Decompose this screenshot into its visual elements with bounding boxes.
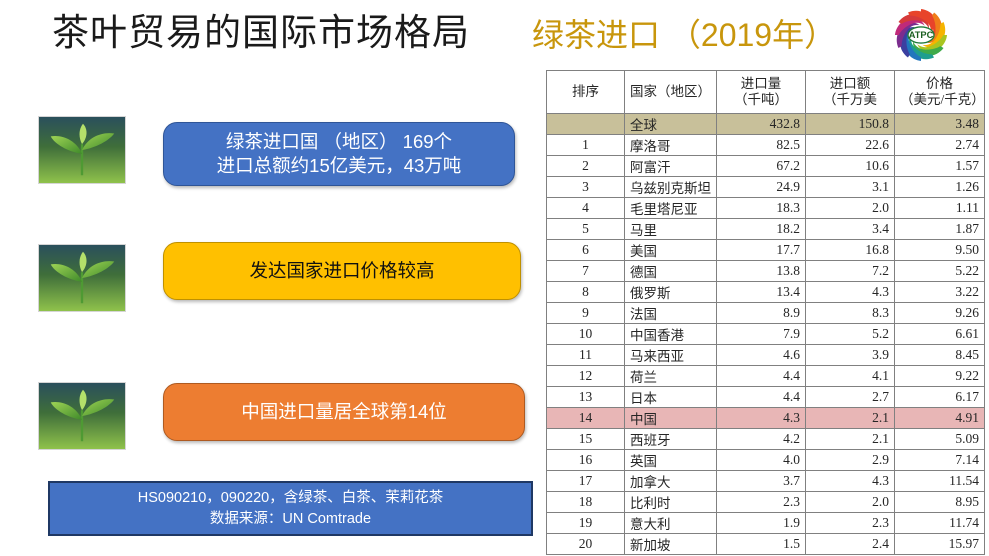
cell-volume: 2.3 bbox=[717, 492, 806, 513]
table-row: 11马来西亚4.63.98.45 bbox=[547, 345, 985, 366]
tea-sprout-art-2 bbox=[39, 245, 125, 311]
table-row: 5马里18.23.41.87 bbox=[547, 219, 985, 240]
cell-value: 2.4 bbox=[806, 534, 895, 555]
cell-rank: 14 bbox=[547, 408, 625, 429]
callout-developed-price: 发达国家进口价格较高 bbox=[163, 242, 521, 300]
callout-china-rank: 中国进口量居全球第14位 bbox=[163, 383, 525, 441]
col-header-volume: 进口量 （千吨） bbox=[717, 71, 806, 114]
table-row: 14中国4.32.14.91 bbox=[547, 408, 985, 429]
cell-country: 加拿大 bbox=[625, 471, 717, 492]
cell-price: 6.61 bbox=[895, 324, 985, 345]
cell-country: 阿富汗 bbox=[625, 156, 717, 177]
cell-value: 5.2 bbox=[806, 324, 895, 345]
cell-price: 6.17 bbox=[895, 387, 985, 408]
table-row: 20新加坡1.52.415.97 bbox=[547, 534, 985, 555]
cell-price: 5.09 bbox=[895, 429, 985, 450]
cell-value: 4.1 bbox=[806, 366, 895, 387]
cell-value: 3.4 bbox=[806, 219, 895, 240]
table-row: 19意大利1.92.311.74 bbox=[547, 513, 985, 534]
cell-rank: 17 bbox=[547, 471, 625, 492]
cell-country: 俄罗斯 bbox=[625, 282, 717, 303]
cell-rank: 5 bbox=[547, 219, 625, 240]
cell-value: 2.1 bbox=[806, 429, 895, 450]
tea-sprout-photo-2 bbox=[38, 244, 126, 312]
cell-price: 1.11 bbox=[895, 198, 985, 219]
cell-value: 4.3 bbox=[806, 282, 895, 303]
source-note-text: HS090210，090220，含绿茶、白茶、茉莉花茶 数据来源：UN Comt… bbox=[138, 488, 443, 529]
cell-country: 马来西亚 bbox=[625, 345, 717, 366]
cell-volume: 13.4 bbox=[717, 282, 806, 303]
cell-price: 3.22 bbox=[895, 282, 985, 303]
atpc-logo-icon: ATPC bbox=[888, 4, 954, 66]
cell-volume: 18.3 bbox=[717, 198, 806, 219]
cell-rank: 7 bbox=[547, 261, 625, 282]
cell-price: 1.87 bbox=[895, 219, 985, 240]
table-row: 7德国13.87.25.22 bbox=[547, 261, 985, 282]
cell-rank: 10 bbox=[547, 324, 625, 345]
cell-price: 1.57 bbox=[895, 156, 985, 177]
cell-rank: 15 bbox=[547, 429, 625, 450]
cell-rank: 20 bbox=[547, 534, 625, 555]
callout-china-rank-text: 中国进口量居全球第14位 bbox=[241, 400, 447, 424]
green-tea-import-table: 排序 国家（地区） 进口量 （千吨） 进口额 （千万美 价格 （美元/千克） 全… bbox=[546, 70, 985, 555]
cell-value: 150.8 bbox=[806, 114, 895, 135]
cell-rank: 8 bbox=[547, 282, 625, 303]
cell-price: 15.97 bbox=[895, 534, 985, 555]
cell-rank: 19 bbox=[547, 513, 625, 534]
cell-volume: 17.7 bbox=[717, 240, 806, 261]
table-header: 排序 国家（地区） 进口量 （千吨） 进口额 （千万美 价格 （美元/千克） bbox=[547, 71, 985, 114]
cell-rank: 16 bbox=[547, 450, 625, 471]
cell-country: 全球 bbox=[625, 114, 717, 135]
table-row: 12荷兰4.44.19.22 bbox=[547, 366, 985, 387]
cell-rank bbox=[547, 114, 625, 135]
page-title: 茶叶贸易的国际市场格局 bbox=[52, 8, 470, 58]
callout-importers-summary: 绿茶进口国 （地区） 169个 进口总额约15亿美元，43万吨 bbox=[163, 122, 515, 186]
cell-country: 日本 bbox=[625, 387, 717, 408]
table-row: 17加拿大3.74.311.54 bbox=[547, 471, 985, 492]
cell-price: 9.50 bbox=[895, 240, 985, 261]
cell-volume: 4.6 bbox=[717, 345, 806, 366]
cell-value: 8.3 bbox=[806, 303, 895, 324]
cell-volume: 3.7 bbox=[717, 471, 806, 492]
cell-country: 比利时 bbox=[625, 492, 717, 513]
cell-price: 9.26 bbox=[895, 303, 985, 324]
cell-country: 西班牙 bbox=[625, 429, 717, 450]
cell-price: 4.91 bbox=[895, 408, 985, 429]
table-row: 6美国17.716.89.50 bbox=[547, 240, 985, 261]
table-row: 8俄罗斯13.44.33.22 bbox=[547, 282, 985, 303]
cell-country: 乌兹别克斯坦 bbox=[625, 177, 717, 198]
cell-value: 3.1 bbox=[806, 177, 895, 198]
table-row: 18比利时2.32.08.95 bbox=[547, 492, 985, 513]
callout-importers-summary-text: 绿茶进口国 （地区） 169个 进口总额约15亿美元，43万吨 bbox=[217, 130, 462, 177]
cell-value: 2.0 bbox=[806, 198, 895, 219]
col-header-value: 进口额 （千万美 bbox=[806, 71, 895, 114]
cell-country: 法国 bbox=[625, 303, 717, 324]
atpc-logo-svg: ATPC bbox=[888, 4, 954, 66]
col-header-country: 国家（地区） bbox=[625, 71, 717, 114]
cell-volume: 4.2 bbox=[717, 429, 806, 450]
cell-volume: 1.5 bbox=[717, 534, 806, 555]
table-row: 3乌兹别克斯坦24.93.11.26 bbox=[547, 177, 985, 198]
cell-value: 22.6 bbox=[806, 135, 895, 156]
cell-rank: 18 bbox=[547, 492, 625, 513]
cell-price: 3.48 bbox=[895, 114, 985, 135]
table-header-row: 排序 国家（地区） 进口量 （千吨） 进口额 （千万美 价格 （美元/千克） bbox=[547, 71, 985, 114]
table-row: 9法国8.98.39.26 bbox=[547, 303, 985, 324]
callout-developed-price-text: 发达国家进口价格较高 bbox=[249, 259, 434, 283]
cell-country: 新加坡 bbox=[625, 534, 717, 555]
cell-country: 意大利 bbox=[625, 513, 717, 534]
table-row: 1摩洛哥82.522.62.74 bbox=[547, 135, 985, 156]
tea-sprout-photo-3 bbox=[38, 382, 126, 450]
cell-value: 2.3 bbox=[806, 513, 895, 534]
col-header-price: 价格 （美元/千克） bbox=[895, 71, 985, 114]
cell-country: 德国 bbox=[625, 261, 717, 282]
cell-volume: 4.4 bbox=[717, 387, 806, 408]
cell-price: 11.74 bbox=[895, 513, 985, 534]
cell-country: 中国香港 bbox=[625, 324, 717, 345]
cell-value: 3.9 bbox=[806, 345, 895, 366]
cell-rank: 11 bbox=[547, 345, 625, 366]
cell-price: 8.45 bbox=[895, 345, 985, 366]
cell-volume: 8.9 bbox=[717, 303, 806, 324]
table-row: 13日本4.42.76.17 bbox=[547, 387, 985, 408]
cell-country: 中国 bbox=[625, 408, 717, 429]
cell-volume: 4.4 bbox=[717, 366, 806, 387]
cell-volume: 432.8 bbox=[717, 114, 806, 135]
table-row: 10中国香港7.95.26.61 bbox=[547, 324, 985, 345]
cell-volume: 18.2 bbox=[717, 219, 806, 240]
cell-value: 2.7 bbox=[806, 387, 895, 408]
table-row: 2阿富汗67.210.61.57 bbox=[547, 156, 985, 177]
cell-rank: 3 bbox=[547, 177, 625, 198]
cell-price: 11.54 bbox=[895, 471, 985, 492]
table-row: 16英国4.02.97.14 bbox=[547, 450, 985, 471]
cell-value: 16.8 bbox=[806, 240, 895, 261]
cell-volume: 4.0 bbox=[717, 450, 806, 471]
cell-price: 7.14 bbox=[895, 450, 985, 471]
cell-volume: 4.3 bbox=[717, 408, 806, 429]
cell-price: 8.95 bbox=[895, 492, 985, 513]
cell-country: 英国 bbox=[625, 450, 717, 471]
cell-volume: 13.8 bbox=[717, 261, 806, 282]
cell-country: 美国 bbox=[625, 240, 717, 261]
cell-country: 马里 bbox=[625, 219, 717, 240]
atpc-logo-label: ATPC bbox=[909, 30, 934, 40]
cell-value: 2.9 bbox=[806, 450, 895, 471]
cell-volume: 7.9 bbox=[717, 324, 806, 345]
cell-country: 荷兰 bbox=[625, 366, 717, 387]
cell-rank: 4 bbox=[547, 198, 625, 219]
tea-sprout-art-1 bbox=[39, 117, 125, 183]
cell-price: 5.22 bbox=[895, 261, 985, 282]
cell-rank: 9 bbox=[547, 303, 625, 324]
cell-price: 9.22 bbox=[895, 366, 985, 387]
cell-price: 2.74 bbox=[895, 135, 985, 156]
table-row: 4毛里塔尼亚18.32.01.11 bbox=[547, 198, 985, 219]
cell-value: 4.3 bbox=[806, 471, 895, 492]
table-row: 15西班牙4.22.15.09 bbox=[547, 429, 985, 450]
cell-volume: 24.9 bbox=[717, 177, 806, 198]
cell-value: 10.6 bbox=[806, 156, 895, 177]
cell-value: 2.1 bbox=[806, 408, 895, 429]
cell-rank: 12 bbox=[547, 366, 625, 387]
table-row: 全球432.8150.83.48 bbox=[547, 114, 985, 135]
cell-country: 摩洛哥 bbox=[625, 135, 717, 156]
cell-rank: 6 bbox=[547, 240, 625, 261]
col-header-rank: 排序 bbox=[547, 71, 625, 114]
tea-sprout-art-3 bbox=[39, 383, 125, 449]
cell-price: 1.26 bbox=[895, 177, 985, 198]
cell-volume: 67.2 bbox=[717, 156, 806, 177]
cell-country: 毛里塔尼亚 bbox=[625, 198, 717, 219]
cell-rank: 13 bbox=[547, 387, 625, 408]
table-body: 全球432.8150.83.481摩洛哥82.522.62.742阿富汗67.2… bbox=[547, 114, 985, 555]
cell-rank: 1 bbox=[547, 135, 625, 156]
cell-rank: 2 bbox=[547, 156, 625, 177]
cell-value: 2.0 bbox=[806, 492, 895, 513]
source-note-box: HS090210，090220，含绿茶、白茶、茉莉花茶 数据来源：UN Comt… bbox=[48, 481, 533, 536]
cell-value: 7.2 bbox=[806, 261, 895, 282]
cell-volume: 1.9 bbox=[717, 513, 806, 534]
slide-title-bar: 茶叶贸易的国际市场格局 绿茶进口 （2019年） bbox=[0, 0, 989, 68]
cell-volume: 82.5 bbox=[717, 135, 806, 156]
tea-sprout-photo-1 bbox=[38, 116, 126, 184]
page-subtitle: 绿茶进口 （2019年） bbox=[532, 12, 836, 58]
